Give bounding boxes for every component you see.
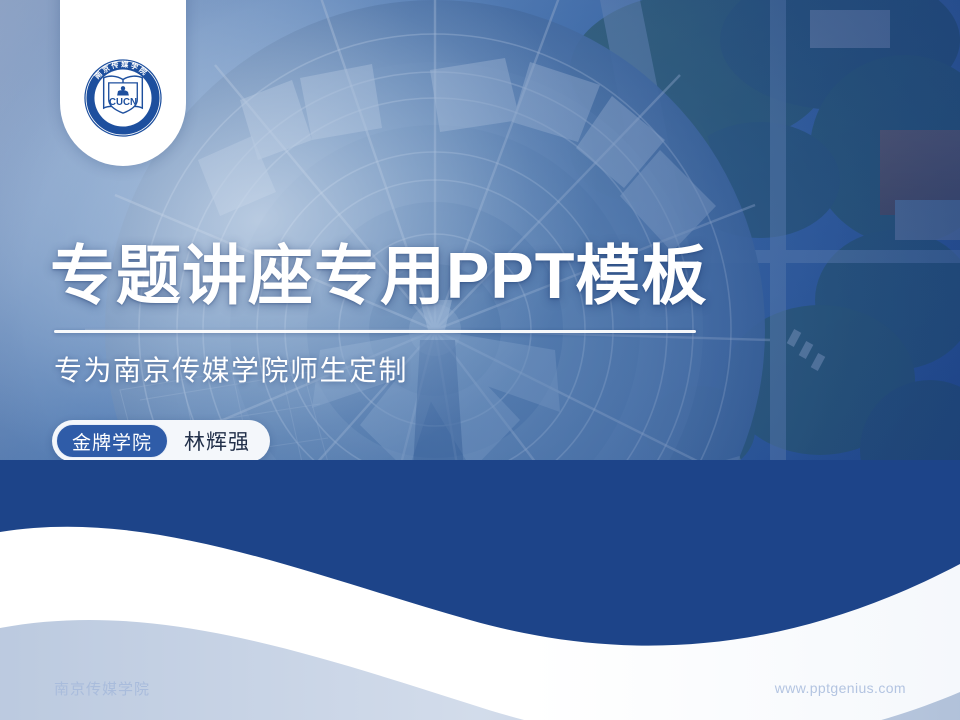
footer-institution-label: 南京传媒学院 [54,678,150,699]
page-subtitle: 专为南京传媒学院师生定制 [54,351,408,391]
page-title: 专题讲座专用PPT模板 [50,240,707,312]
presentation-cover-slide: 南京传媒学院 COMMUNICATION UNIVERSITY OF CHINA… [0,0,960,720]
credential-pill: 金牌学院 林辉强 [52,420,270,462]
university-logo-tab: 南京传媒学院 COMMUNICATION UNIVERSITY OF CHINA… [60,0,186,166]
footer-website-url[interactable]: www.pptgenius.com [775,680,906,696]
logo-acronym-text: CUCN [109,97,137,108]
status-badge: 金牌学院 [56,424,168,458]
title-divider [54,330,696,333]
university-emblem-icon: 南京传媒学院 COMMUNICATION UNIVERSITY OF CHINA… [81,56,165,140]
presenter-name: 林辉强 [184,426,250,456]
